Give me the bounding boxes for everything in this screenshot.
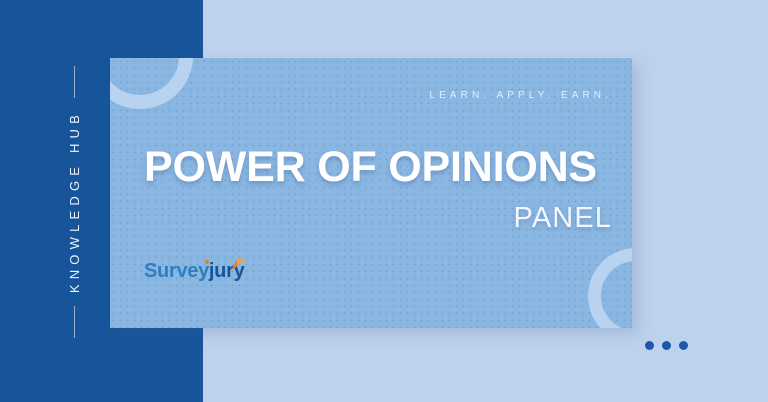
dot-1-icon	[645, 341, 654, 350]
dot-2-icon	[662, 341, 671, 350]
orange-dot-icon	[205, 260, 209, 264]
rail-bottom-rule	[74, 306, 75, 338]
card-headline: POWER OF OPINIONS	[144, 146, 597, 189]
ring-outline-bottom-right-icon	[588, 248, 632, 328]
card-tagline: LEARN. APPLY. EARN.	[429, 90, 612, 101]
orange-arrow-mark-icon	[230, 255, 244, 268]
poster-canvas: KNOWLEDGE HUB LEARN. APPLY. EARN. POWER …	[0, 0, 768, 402]
rail-top-rule	[74, 66, 75, 98]
ring-outline-top-left-icon	[110, 58, 193, 109]
card-subheadline: PANEL	[514, 204, 612, 233]
dot-3-icon	[679, 341, 688, 350]
decorative-dots	[645, 341, 688, 350]
main-card: LEARN. APPLY. EARN. POWER OF OPINIONS PA…	[110, 58, 632, 328]
knowledge-hub-rail: KNOWLEDGE HUB	[52, 58, 96, 346]
surveyjury-logo: Surveyjury	[144, 255, 244, 281]
logo-text-survey: Survey	[144, 260, 209, 282]
knowledge-hub-label: KNOWLEDGE HUB	[68, 110, 81, 293]
logo-wordmark: Surveyjury	[144, 261, 244, 281]
